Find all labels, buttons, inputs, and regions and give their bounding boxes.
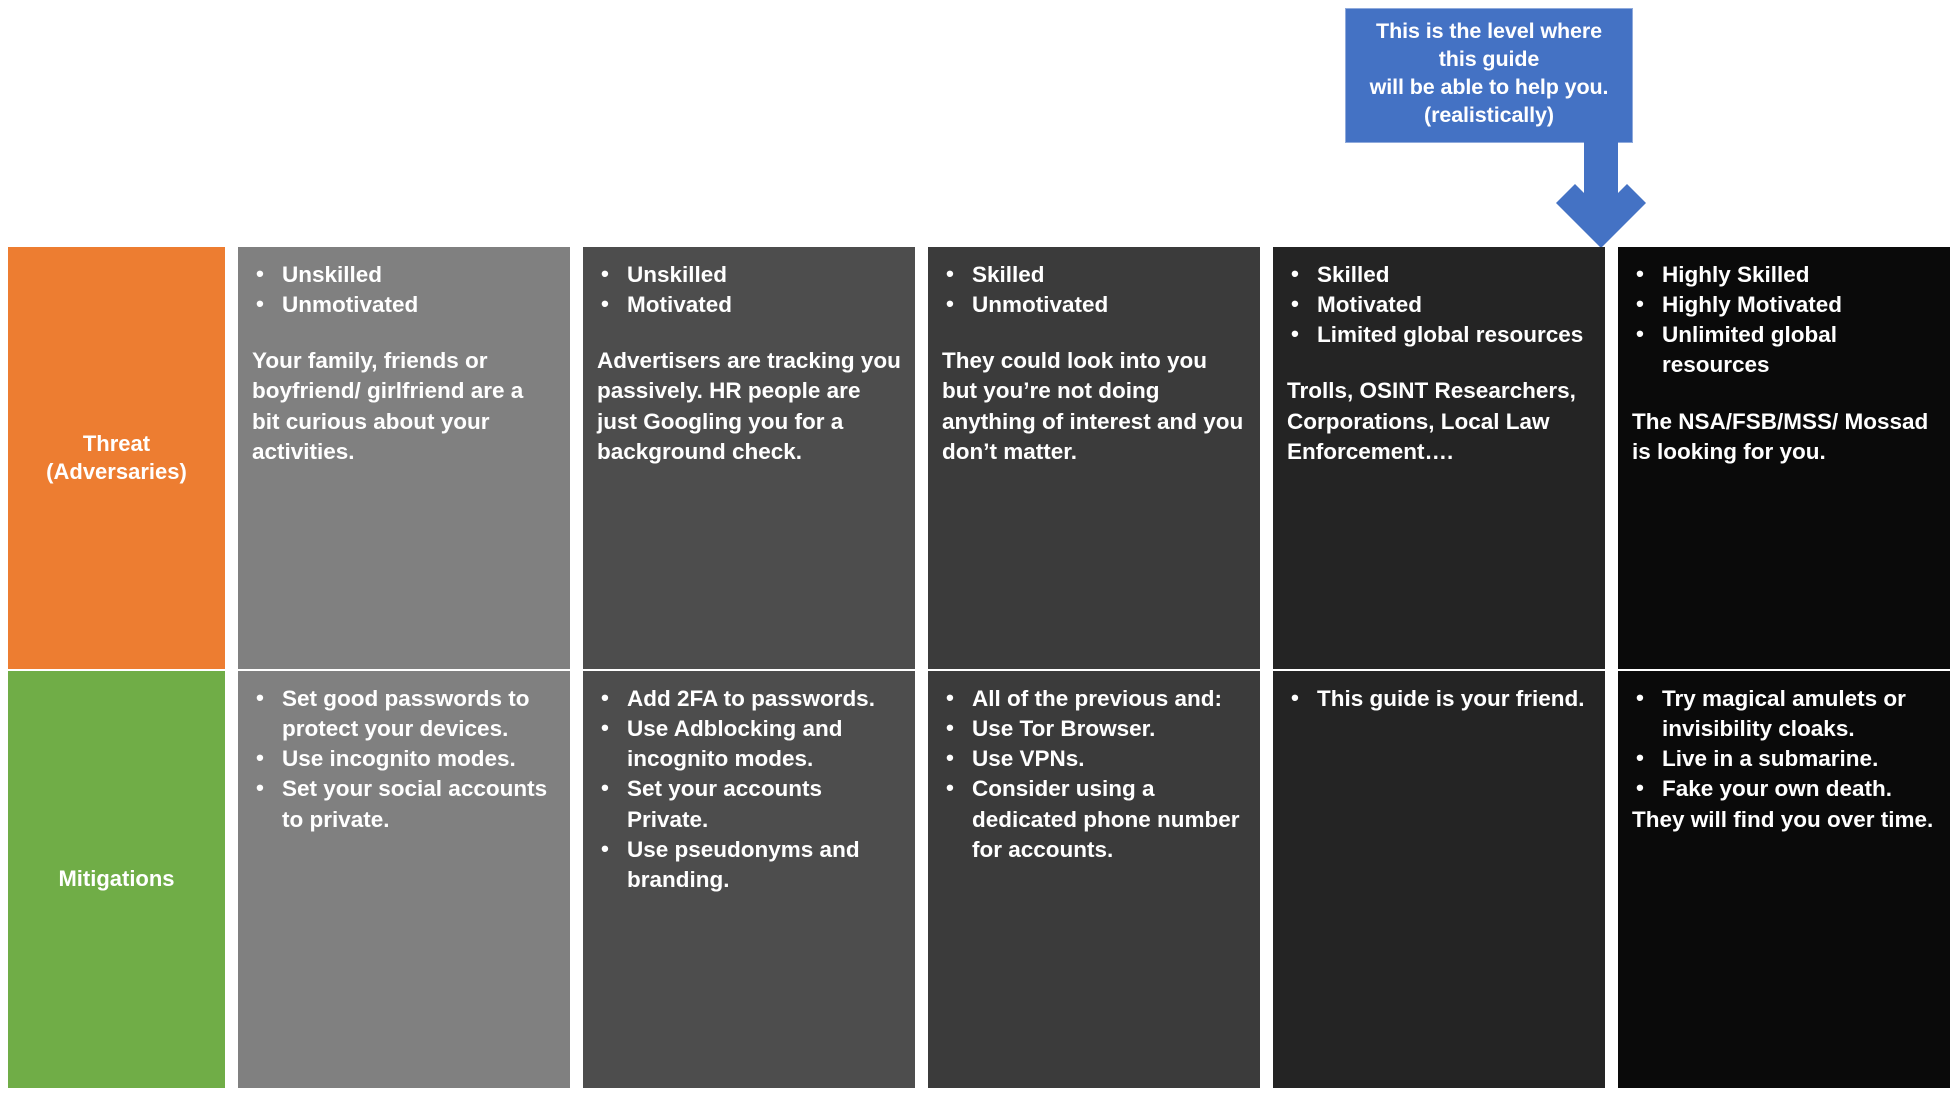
mitigations-cell-level-1: Set good passwords to protect your devic…: [238, 671, 570, 1088]
list-item: Unskilled: [252, 260, 556, 290]
row-header-threat-line2: (Adversaries): [46, 459, 187, 484]
list-item: Use pseudonyms and branding.: [597, 835, 901, 895]
threat-cell-level-4: Skilled Motivated Limited global resourc…: [1273, 247, 1605, 669]
callout-line-2: will be able to help you.: [1356, 74, 1622, 102]
list-item: Use incognito modes.: [252, 744, 556, 774]
list-item: Highly Motivated: [1632, 290, 1936, 320]
list-item: Set good passwords to protect your devic…: [252, 684, 556, 744]
column-gap: [917, 247, 926, 669]
list-item: Fake your own death.: [1632, 774, 1936, 804]
list-item: Set your social accounts to private.: [252, 774, 556, 834]
threat-description-level-2: Advertisers are tracking you passively. …: [597, 346, 901, 467]
mitigations-bullets-level-4: This guide is your friend.: [1287, 684, 1591, 714]
threat-row: Threat (Adversaries) Unskilled Unmotivat…: [8, 247, 1950, 669]
column-gap: [1607, 247, 1616, 669]
mitigations-cell-level-5: Try magical amulets or invisibility cloa…: [1618, 671, 1950, 1088]
mitigations-footer-level-5: They will find you over time.: [1632, 805, 1936, 835]
column-gap: [1262, 671, 1271, 1088]
threat-description-level-1: Your family, friends or boyfriend/ girlf…: [252, 346, 556, 467]
list-item: Highly Skilled: [1632, 260, 1936, 290]
threat-bullets-level-1: Unskilled Unmotivated: [252, 260, 556, 320]
list-item: Limited global resources: [1287, 320, 1591, 350]
column-gap: [572, 247, 581, 669]
threat-cell-level-2: Unskilled Motivated Advertisers are trac…: [583, 247, 915, 669]
list-item: Unmotivated: [942, 290, 1246, 320]
list-item: Use Adblocking and incognito modes.: [597, 714, 901, 774]
threat-description-level-3: They could look into you but you’re not …: [942, 346, 1246, 467]
threat-matrix-table: Threat (Adversaries) Unskilled Unmotivat…: [8, 247, 1950, 1088]
header-gap: [227, 671, 236, 1088]
header-gap: [227, 247, 236, 669]
threat-bullets-level-2: Unskilled Motivated: [597, 260, 901, 320]
list-item: Skilled: [1287, 260, 1591, 290]
mitigations-cell-level-4: This guide is your friend.: [1273, 671, 1605, 1088]
column-gap: [1262, 247, 1271, 669]
mitigations-row: Mitigations Set good passwords to protec…: [8, 671, 1950, 1088]
list-item: All of the previous and:: [942, 684, 1246, 714]
list-item: Add 2FA to passwords.: [597, 684, 901, 714]
threat-bullets-level-3: Skilled Unmotivated: [942, 260, 1246, 320]
list-item: Skilled: [942, 260, 1246, 290]
column-gap: [1607, 671, 1616, 1088]
mitigations-bullets-level-5: Try magical amulets or invisibility cloa…: [1632, 684, 1936, 805]
list-item: This guide is your friend.: [1287, 684, 1591, 714]
threat-cell-level-1: Unskilled Unmotivated Your family, frien…: [238, 247, 570, 669]
list-item: Use Tor Browser.: [942, 714, 1246, 744]
threat-cell-level-3: Skilled Unmotivated They could look into…: [928, 247, 1260, 669]
list-item: Live in a submarine.: [1632, 744, 1936, 774]
list-item: Use VPNs.: [942, 744, 1246, 774]
list-item: Unlimited global resources: [1632, 320, 1936, 380]
list-item: Motivated: [597, 290, 901, 320]
row-header-mitigations-label: Mitigations: [58, 865, 174, 893]
mitigations-bullets-level-1: Set good passwords to protect your devic…: [252, 684, 556, 835]
column-gap: [572, 671, 581, 1088]
list-item: Motivated: [1287, 290, 1591, 320]
row-header-threat: Threat (Adversaries): [8, 247, 225, 669]
guide-level-callout: This is the level where this guide will …: [1345, 8, 1633, 143]
threat-bullets-level-5: Highly Skilled Highly Motivated Unlimite…: [1632, 260, 1936, 381]
list-item: Unmotivated: [252, 290, 556, 320]
row-header-mitigations: Mitigations: [8, 671, 225, 1088]
row-header-threat-line1: Threat: [83, 431, 150, 456]
list-item: Unskilled: [597, 260, 901, 290]
threat-description-level-4: Trolls, OSINT Researchers, Corporations,…: [1287, 376, 1591, 466]
callout-line-3: (realistically): [1356, 102, 1622, 130]
mitigations-cell-level-3: All of the previous and: Use Tor Browser…: [928, 671, 1260, 1088]
mitigations-bullets-level-3: All of the previous and: Use Tor Browser…: [942, 684, 1246, 865]
row-header-threat-label: Threat (Adversaries): [46, 430, 187, 486]
list-item: Try magical amulets or invisibility cloa…: [1632, 684, 1936, 744]
callout-line-1: This is the level where this guide: [1356, 18, 1622, 74]
list-item: Consider using a dedicated phone number …: [942, 774, 1246, 864]
mitigations-cell-level-2: Add 2FA to passwords. Use Adblocking and…: [583, 671, 915, 1088]
threat-cell-level-5: Highly Skilled Highly Motivated Unlimite…: [1618, 247, 1950, 669]
threat-description-level-5: The NSA/FSB/MSS/ Mossad is looking for y…: [1632, 407, 1936, 467]
column-gap: [917, 671, 926, 1088]
list-item: Set your accounts Private.: [597, 774, 901, 834]
threat-bullets-level-4: Skilled Motivated Limited global resourc…: [1287, 260, 1591, 350]
mitigations-bullets-level-2: Add 2FA to passwords. Use Adblocking and…: [597, 684, 901, 895]
threat-model-diagram: This is the level where this guide will …: [0, 0, 1958, 1096]
